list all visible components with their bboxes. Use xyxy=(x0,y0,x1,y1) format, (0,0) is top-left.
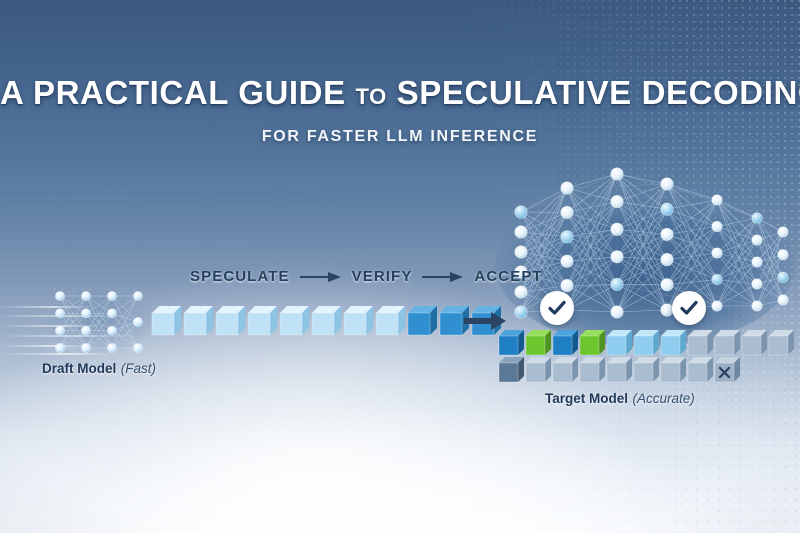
verified-token-cube xyxy=(688,330,713,360)
verified-token-cube xyxy=(553,330,578,360)
target-model-qualifier: (Accurate) xyxy=(632,391,694,406)
speculated-token-cube xyxy=(184,306,213,340)
speculated-token-cube xyxy=(312,306,341,340)
verified-token-cube xyxy=(499,330,524,360)
verified-token-cube xyxy=(742,330,767,360)
page-title: A PRACTICAL GUIDE TO SPECULATIVE DECODIN… xyxy=(0,74,800,112)
flow-arrow-icon xyxy=(464,310,508,332)
verified-token-cube xyxy=(580,330,605,360)
target-model-name: Target Model xyxy=(545,391,628,406)
check-circle-icon xyxy=(672,291,706,325)
step-speculate: SPECULATE xyxy=(190,268,290,285)
right-arrow-icon xyxy=(422,271,464,283)
accepted-token-row xyxy=(499,330,794,360)
verified-token-cube xyxy=(634,330,659,360)
page-subtitle: FOR FASTER LLM INFERENCE xyxy=(0,128,800,146)
speculated-token-cube xyxy=(408,306,437,340)
target-model-caption: Target Model (Accurate) xyxy=(545,390,695,408)
candidate-token-cube xyxy=(580,357,605,387)
speculated-token-cube xyxy=(152,306,181,340)
verified-token-cube xyxy=(769,330,794,360)
step-accept: ACCEPT xyxy=(474,268,542,285)
speculated-token-cube xyxy=(344,306,373,340)
speculated-token-cube xyxy=(376,306,405,340)
draft-model-name: Draft Model xyxy=(42,361,116,376)
rejected-token-row xyxy=(499,357,740,387)
draft-model-qualifier: (Fast) xyxy=(121,361,156,376)
candidate-token-cube xyxy=(688,357,713,387)
candidate-token-cube xyxy=(715,357,740,387)
candidate-token-cube xyxy=(526,357,551,387)
check-circle-icon xyxy=(540,291,574,325)
step-verify: VERIFY xyxy=(352,268,413,285)
title-part-2: SPECULATIVE DECODING xyxy=(387,74,800,111)
infographic-canvas: SPECULATE VERIFY ACCEPT Draft Model (Fas… xyxy=(0,0,800,533)
verified-token-cube xyxy=(526,330,551,360)
speculated-token-cube xyxy=(216,306,245,340)
title-part-1: A PRACTICAL GUIDE xyxy=(0,74,355,111)
speculated-token-cube xyxy=(248,306,277,340)
candidate-token-cube xyxy=(607,357,632,387)
verified-token-cube xyxy=(607,330,632,360)
candidate-token-cube xyxy=(553,357,578,387)
right-arrow-icon xyxy=(300,271,342,283)
process-steps: SPECULATE VERIFY ACCEPT xyxy=(190,268,543,285)
verified-token-cube xyxy=(661,330,686,360)
candidate-token-cube xyxy=(661,357,686,387)
speculated-token-cube xyxy=(280,306,309,340)
draft-model-network xyxy=(44,286,154,356)
candidate-token-cube xyxy=(634,357,659,387)
speculation-token-chain xyxy=(152,306,501,340)
verified-token-cube xyxy=(715,330,740,360)
draft-model-caption: Draft Model (Fast) xyxy=(42,360,156,378)
title-part-to: TO xyxy=(355,84,386,109)
candidate-token-cube xyxy=(499,357,524,387)
